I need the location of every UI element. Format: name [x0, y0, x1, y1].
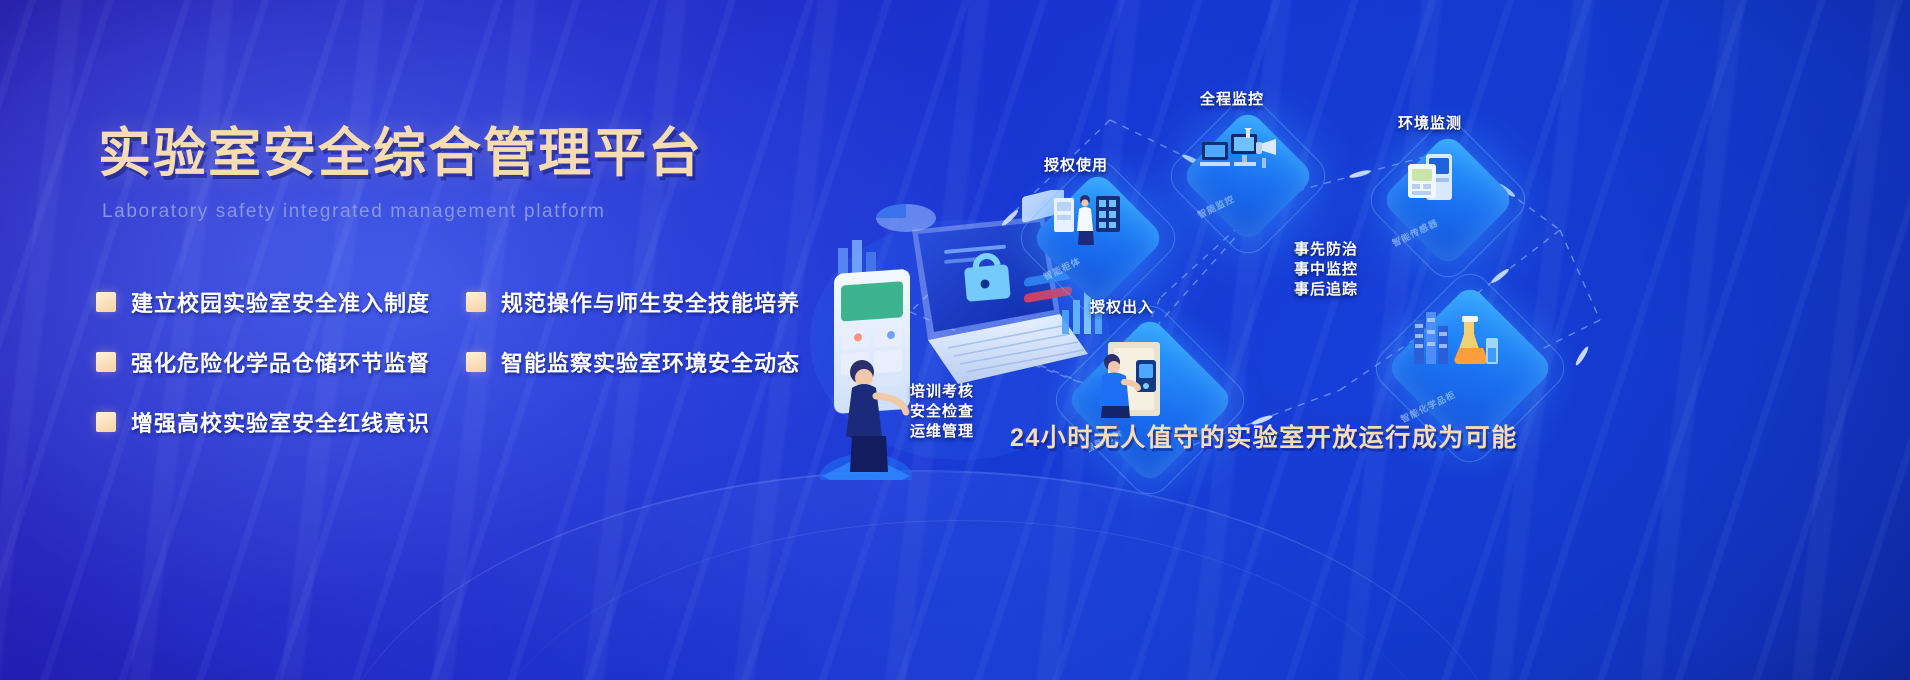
chemical-storage-icon [1410, 308, 1502, 382]
page-title: 实验室安全综合管理平台 [98, 124, 898, 183]
headline-block: 实验室安全综合管理平台 Laboratory safety integrated… [98, 124, 898, 223]
isometric-diagram: 培训考核 安全检查 运维管理 [800, 90, 1910, 620]
node-tile [1380, 132, 1516, 268]
tracking-label: 事先防治 事中监控 事后追踪 [1294, 240, 1358, 299]
center-label: 培训考核 安全检查 运维管理 [910, 382, 974, 441]
sensor-panel-icon [1400, 152, 1464, 212]
square-marker-icon [96, 352, 116, 372]
smart-cabinet-icon [1050, 190, 1126, 248]
node-tile [1065, 315, 1235, 485]
list-item-label: 规范操作与师生安全技能培养 [501, 286, 800, 318]
list-item: 智能监察实验室环境安全动态 [466, 332, 836, 392]
page-subtitle: Laboratory safety integrated management … [102, 201, 898, 223]
list-item: 增强高校实验室安全红线意识 [96, 392, 466, 452]
node-tile [1030, 170, 1166, 306]
square-marker-icon [466, 292, 486, 312]
list-item-label: 建立校园实验室安全准入制度 [131, 286, 430, 318]
node-label: 授权使用 [1044, 154, 1108, 175]
list-item: 建立校园实验室安全准入制度 [96, 272, 466, 332]
center-label-line: 安全检查 [910, 402, 974, 422]
square-marker-icon [96, 292, 116, 312]
node-label: 全程监控 [1200, 88, 1264, 109]
list-item-label: 增强高校实验室安全红线意识 [131, 406, 430, 438]
tracking-label-line: 事后追踪 [1294, 280, 1358, 300]
list-item: 强化危险化学品仓储环节监督 [96, 332, 466, 392]
list-item: 规范操作与师生安全技能培养 [466, 272, 836, 332]
node-tile [1180, 108, 1316, 244]
tracking-label-line: 事中监控 [1294, 260, 1358, 280]
node-label: 授权出入 [1090, 296, 1154, 317]
square-marker-icon [96, 412, 116, 432]
diagram-footer-text: 24小时无人值守的实验室开放运行成为可能 [1010, 418, 1518, 454]
list-item-label: 智能监察实验室环境安全动态 [501, 346, 800, 378]
banner-root: 实验室安全综合管理平台 Laboratory safety integrated… [0, 0, 1910, 680]
list-item-label: 强化危险化学品仓储环节监督 [131, 346, 430, 378]
monitor-camera-icon [1200, 128, 1282, 182]
center-label-line: 培训考核 [910, 382, 974, 402]
tracking-label-line: 事先防治 [1294, 240, 1358, 260]
center-label-line: 运维管理 [910, 422, 974, 442]
square-marker-icon [466, 352, 486, 372]
access-door-icon [1090, 340, 1176, 420]
node-label: 环境监测 [1398, 112, 1462, 133]
